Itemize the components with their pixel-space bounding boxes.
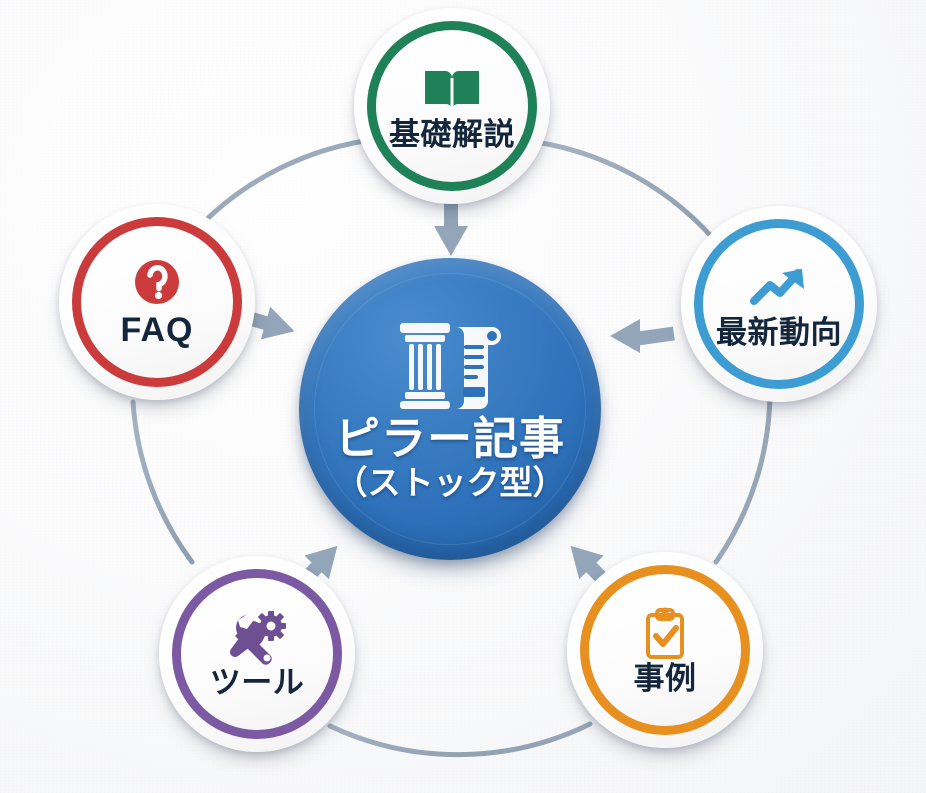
arrow-doko-to-center [610,319,675,353]
node-label-tool: ツール [210,667,305,698]
center-title: ピラー記事 [335,415,565,462]
question-mark-circle-icon [126,257,188,311]
pillar-scroll-icon [394,317,506,409]
open-book-icon [421,63,483,117]
diagram-canvas: ピラー記事 （ストック型） 基礎解説 最新動向 [0,0,926,793]
center-subtitle: （ストック型） [335,465,566,501]
arrow-kiso-to-center [434,196,468,256]
wrench-gear-icon [226,611,288,665]
node-label-kiso: 基礎解説 [389,119,515,150]
node-label-faq: FAQ [121,313,194,347]
node-tool[interactable]: ツール [159,556,355,752]
node-kiso[interactable]: 基礎解説 [354,8,550,204]
node-label-jirei: 事例 [634,663,697,694]
node-label-doko: 最新動向 [716,317,842,348]
node-faq[interactable]: FAQ [59,204,255,400]
trending-up-arrow-icon [748,261,810,315]
clipboard-check-icon [634,607,696,661]
center-node-pillar-article[interactable]: ピラー記事 （ストック型） [299,258,601,560]
node-doko[interactable]: 最新動向 [681,206,877,402]
node-jirei[interactable]: 事例 [567,552,763,748]
